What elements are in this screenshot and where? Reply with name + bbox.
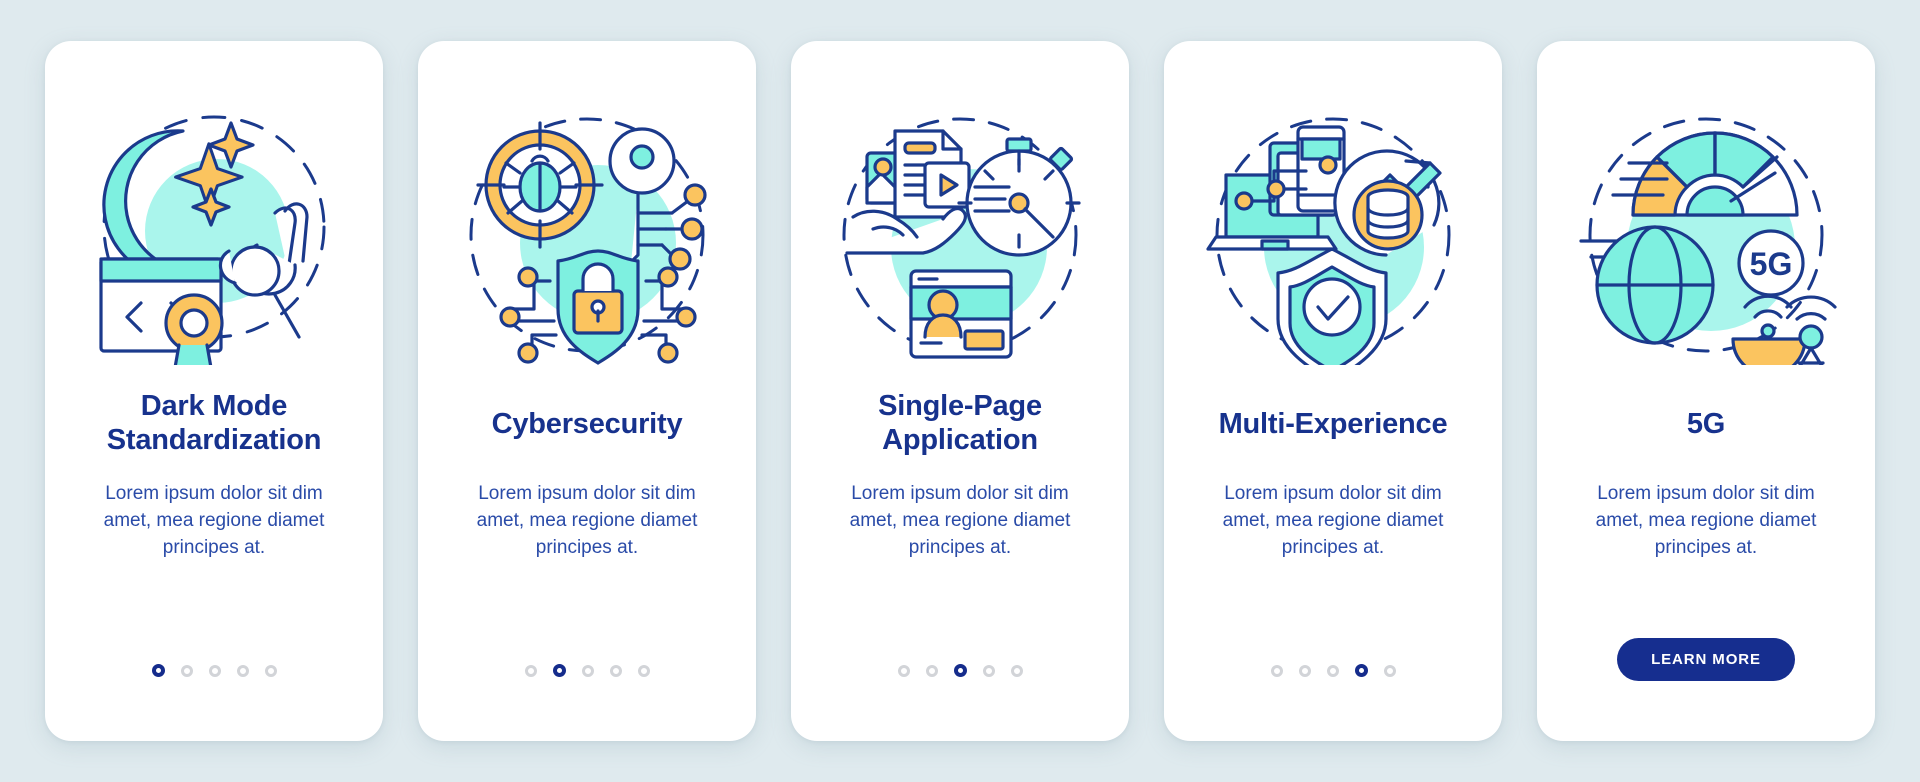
onboarding-card-single-page-application: Single-Page Application Lorem ipsum dolo… [791,41,1129,741]
onboarding-card-multi-experience: Multi-Experience Lorem ipsum dolor sit d… [1164,41,1502,741]
pagination-dots[interactable] [898,664,1023,677]
pagination-dot-5[interactable] [265,665,277,677]
pagination-dot-1[interactable] [898,665,910,677]
pagination-dot-3[interactable] [954,664,967,677]
card-title: Cybersecurity [492,389,683,459]
pagination-dots[interactable] [152,664,277,677]
card-description: Lorem ipsum dolor sit dim amet, mea regi… [1574,481,1839,562]
card-description: Lorem ipsum dolor sit dim amet, mea regi… [82,481,347,562]
five-g-illustration: 5G [1571,95,1841,365]
pagination-dot-4[interactable] [983,665,995,677]
five-g-badge-text: 5G [1750,246,1793,282]
pagination-dot-4[interactable] [237,665,249,677]
pagination-dot-3[interactable] [209,665,221,677]
pagination-dot-3[interactable] [582,665,594,677]
pagination-dot-2[interactable] [1299,665,1311,677]
card-title: Single-Page Application [815,389,1105,459]
onboarding-card-dark-mode: Dark Mode Standardization Lorem ipsum do… [45,41,383,741]
card-title: Multi-Experience [1219,389,1448,459]
card-description: Lorem ipsum dolor sit dim amet, mea regi… [828,481,1093,562]
onboarding-screens-board: Dark Mode Standardization Lorem ipsum do… [0,0,1920,782]
pagination-dot-3[interactable] [1327,665,1339,677]
pagination-dot-1[interactable] [525,665,537,677]
pagination-dot-1[interactable] [1271,665,1283,677]
pagination-dot-4[interactable] [1355,664,1368,677]
onboarding-card-cybersecurity: Cybersecurity Lorem ipsum dolor sit dim … [418,41,756,741]
onboarding-card-5g: 5G 5G Lorem ipsum dolor sit dim amet, me… [1537,41,1875,741]
learn-more-button[interactable]: LEARN MORE [1617,638,1795,681]
single-page-application-illustration [825,95,1095,365]
card-description: Lorem ipsum dolor sit dim amet, mea regi… [455,481,720,562]
pagination-dot-1[interactable] [152,664,165,677]
pagination-dot-2[interactable] [926,665,938,677]
dark-mode-illustration [79,95,349,365]
pagination-dots[interactable] [525,664,650,677]
pagination-dots[interactable] [1271,664,1396,677]
card-title: 5G [1687,389,1725,459]
pagination-dot-5[interactable] [1384,665,1396,677]
pagination-dot-2[interactable] [181,665,193,677]
pagination-dot-5[interactable] [1011,665,1023,677]
pagination-dot-2[interactable] [553,664,566,677]
pagination-dot-5[interactable] [638,665,650,677]
card-description: Lorem ipsum dolor sit dim amet, mea regi… [1201,481,1466,562]
cybersecurity-illustration [452,95,722,365]
multi-experience-illustration [1198,95,1468,365]
card-title: Dark Mode Standardization [69,389,359,459]
pagination-dot-4[interactable] [610,665,622,677]
